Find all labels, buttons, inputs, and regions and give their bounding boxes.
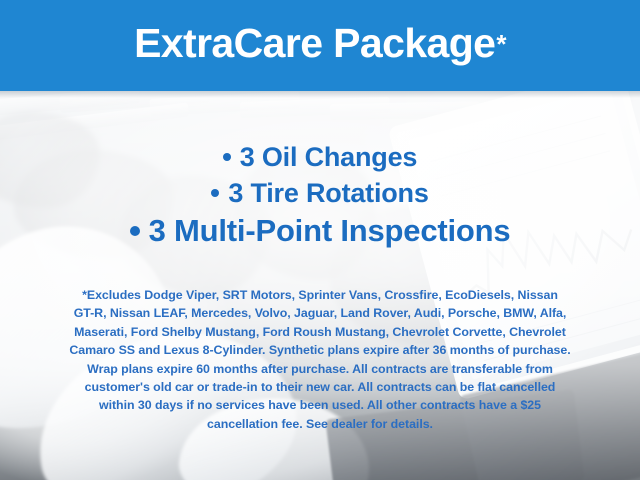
page-title: ExtraCare Package* [0, 0, 640, 91]
bullet-dot-icon [211, 189, 219, 197]
disclaimer-line: GT-R, Nissan LEAF, Mercedes, Volvo, Jagu… [24, 304, 616, 322]
benefit-label: 3 Multi-Point Inspections [149, 213, 511, 248]
bullet-dot-icon [130, 226, 140, 236]
list-item: 3 Multi-Point Inspections [0, 211, 640, 252]
bullet-dot-icon [223, 153, 231, 161]
disclaimer-line: *Excludes Dodge Viper, SRT Motors, Sprin… [24, 286, 616, 304]
extracare-package-banner: ExtraCare Package* 3 Oil Changes 3 Tire … [0, 0, 640, 480]
benefits-list: 3 Oil Changes 3 Tire Rotations 3 Multi-P… [0, 140, 640, 252]
disclaimer-line: within 30 days if no services have been … [24, 396, 616, 414]
disclaimer-line: customer's old car or trade-in to their … [24, 378, 616, 396]
benefit-label: 3 Tire Rotations [228, 178, 428, 208]
disclaimer-line: cancellation fee. See dealer for details… [24, 415, 616, 433]
disclaimer-line: Maserati, Ford Shelby Mustang, Ford Rous… [24, 323, 616, 341]
header-drop-shadow [0, 91, 640, 98]
list-item: 3 Tire Rotations [0, 176, 640, 212]
benefit-label: 3 Oil Changes [240, 142, 417, 172]
list-item: 3 Oil Changes [0, 140, 640, 176]
disclaimer-text: *Excludes Dodge Viper, SRT Motors, Sprin… [24, 286, 616, 433]
disclaimer-line: Wrap plans expire 60 months after purcha… [24, 360, 616, 378]
page-title-text: ExtraCare Package [134, 23, 495, 64]
disclaimer-line: Camaro SS and Lexus 8-Cylinder. Syntheti… [24, 341, 616, 359]
